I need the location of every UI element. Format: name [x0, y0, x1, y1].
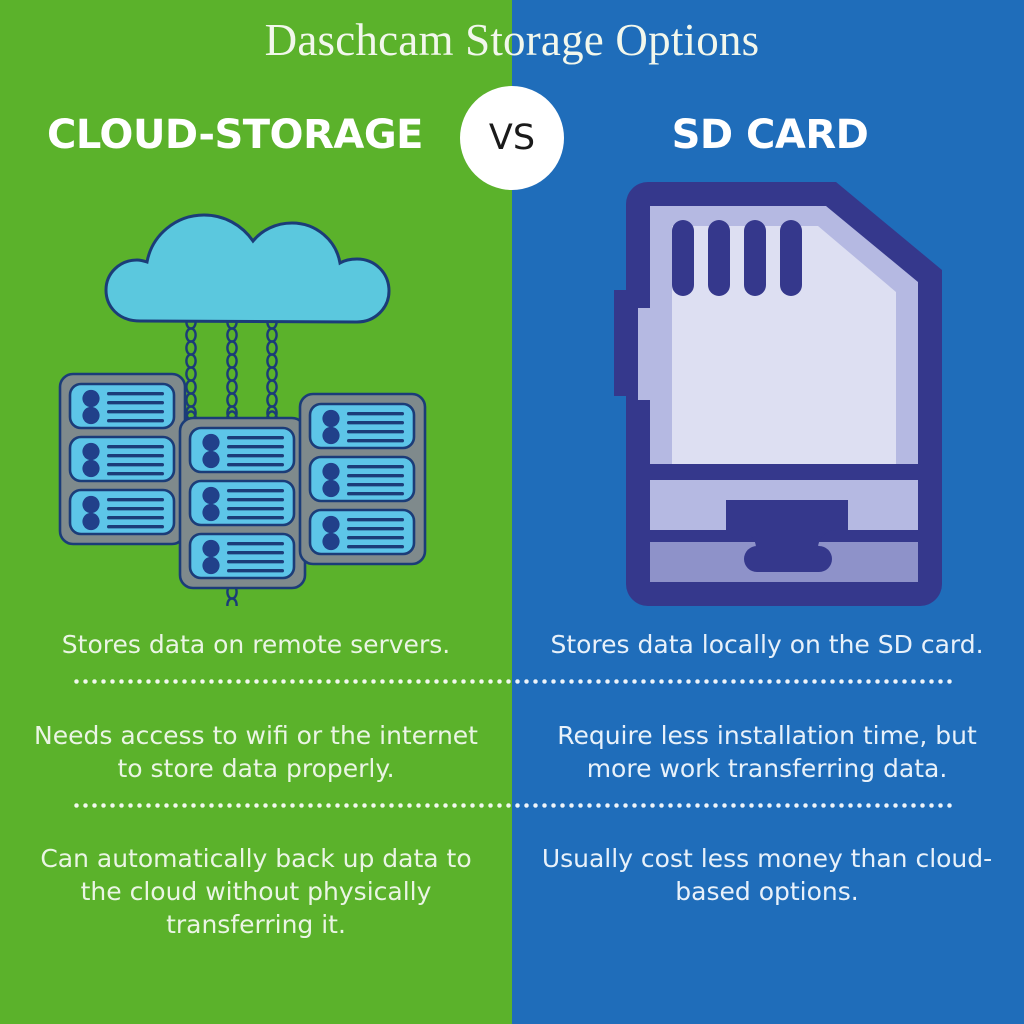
infographic-root: Daschcam Storage Options CLOUD-STORAGE S… — [0, 0, 1024, 1024]
server-rack-center — [180, 418, 305, 588]
row-separator-2 — [72, 803, 956, 808]
feature-cloud-3: Can automatically back up data to the cl… — [22, 842, 490, 941]
page-title: Daschcam Storage Options — [0, 16, 1024, 66]
server-rack-left — [60, 374, 185, 544]
vs-badge: VS — [460, 86, 564, 190]
feature-cloud-1: Stores data on remote servers. — [22, 628, 490, 661]
vs-badge-label: VS — [489, 118, 535, 158]
feature-sd-1: Stores data locally on the SD card. — [532, 628, 1002, 661]
sdcard-divider-band — [650, 464, 918, 480]
server-rack-right — [300, 394, 425, 564]
column-heading-cloud-storage: CLOUD-STORAGE — [0, 112, 470, 158]
feature-sd-3: Usually cost less money than cloud-based… — [532, 842, 1002, 908]
cloud-servers-icon — [52, 186, 472, 606]
sdcard-notch — [650, 480, 918, 582]
row-separator-1 — [72, 679, 956, 684]
sd-card-icon — [604, 178, 964, 608]
feature-sd-2: Require less installation time, but more… — [532, 719, 1002, 785]
column-heading-sd-card: SD CARD — [560, 112, 980, 158]
feature-cloud-2: Needs access to wifi or the internet to … — [22, 719, 490, 785]
cloud-shape — [106, 215, 389, 322]
